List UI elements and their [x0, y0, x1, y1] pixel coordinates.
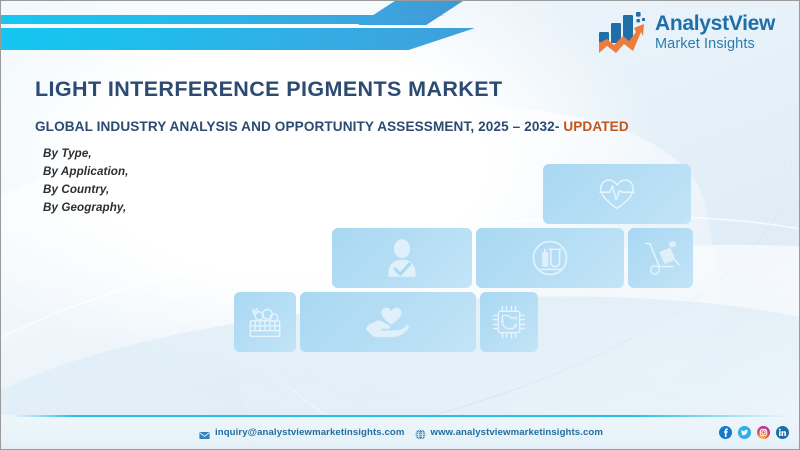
instagram-icon[interactable] — [757, 426, 770, 439]
segment-item-application: By Application, — [43, 165, 128, 178]
social-links — [719, 415, 789, 449]
lab-beaker-chart-icon — [530, 238, 570, 278]
ribbon-band-thin — [1, 15, 445, 24]
brand-logo[interactable]: AnalystView Market Insights — [599, 4, 791, 60]
footer-contact-group: inquiry@analystviewmarketinsights.com ww… — [1, 415, 800, 449]
brand-logo-text: AnalystView Market Insights — [655, 13, 775, 52]
segment-item-country: By Country, — [43, 183, 128, 196]
report-cover-page: AnalystView Market Insights LIGHT INTERF… — [0, 0, 800, 450]
tile-lab-beaker-chart — [476, 228, 624, 288]
footer-website-text: www.analystviewmarketinsights.com — [431, 427, 604, 438]
footer-website[interactable]: www.analystviewmarketinsights.com — [415, 427, 604, 438]
bar-chart-logo-icon — [599, 10, 649, 54]
linkedin-icon[interactable] — [776, 426, 789, 439]
heart-pulse-icon — [597, 176, 637, 212]
subtitle-main-text: GLOBAL INDUSTRY ANALYSIS AND OPPORTUNITY… — [35, 119, 559, 134]
envelope-icon — [199, 427, 210, 438]
segment-item-type: By Type, — [43, 147, 128, 160]
tile-person-check — [332, 228, 472, 288]
person-check-icon — [385, 239, 419, 277]
brand-tagline: Market Insights — [655, 37, 775, 52]
brand-name: AnalystView — [655, 13, 775, 34]
updated-badge: UPDATED — [563, 119, 628, 134]
footer-email[interactable]: inquiry@analystviewmarketinsights.com — [199, 427, 405, 438]
ribbon-band-thick — [1, 28, 475, 50]
segment-list: By Type, By Application, By Country, By … — [43, 147, 128, 214]
page-footer: inquiry@analystviewmarketinsights.com ww… — [1, 415, 800, 449]
tile-microchip — [480, 292, 538, 352]
footer-email-text: inquiry@analystviewmarketinsights.com — [215, 427, 405, 438]
crate-produce-icon — [247, 306, 283, 339]
tile-heart-pulse — [543, 164, 691, 224]
tile-crate-produce — [234, 292, 296, 352]
page-subtitle: GLOBAL INDUSTRY ANALYSIS AND OPPORTUNITY… — [35, 119, 629, 134]
hand-heart-icon — [366, 305, 410, 339]
tile-hand-truck — [628, 228, 693, 288]
background-wave-2 — [0, 0, 800, 450]
tile-hand-heart — [300, 292, 476, 352]
segment-item-geography: By Geography, — [43, 201, 128, 214]
globe-icon — [415, 427, 426, 438]
microchip-icon — [491, 304, 527, 340]
facebook-icon[interactable] — [719, 426, 732, 439]
hand-truck-icon — [642, 240, 680, 276]
page-title: LIGHT INTERFERENCE PIGMENTS MARKET — [35, 77, 503, 102]
twitter-icon[interactable] — [738, 426, 751, 439]
